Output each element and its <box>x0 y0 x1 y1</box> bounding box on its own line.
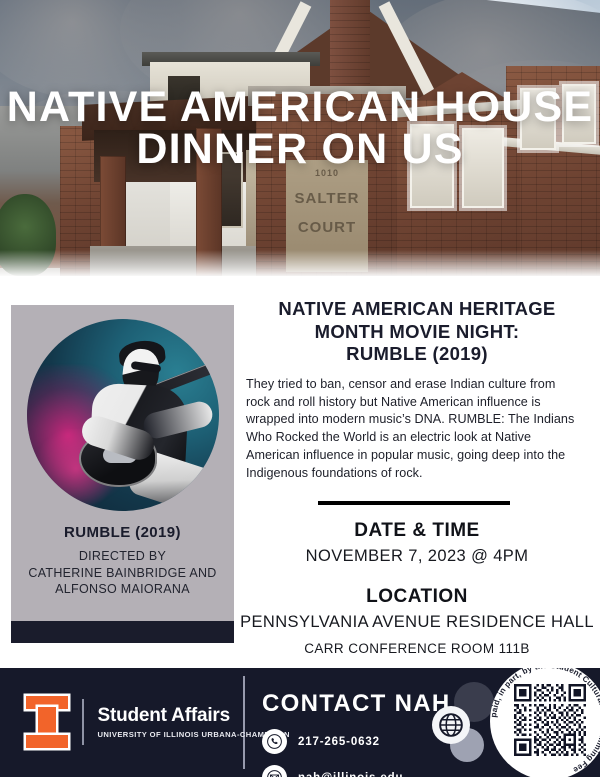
event-heading-line1: NATIVE AMERICAN HERITAGE <box>240 298 594 321</box>
section-divider <box>318 501 510 505</box>
movie-poster-artwork <box>27 319 219 511</box>
email-address: nah@illinois.edu <box>298 772 403 777</box>
event-heading-line3: RUMBLE (2019) <box>240 343 594 366</box>
envelope-icon <box>262 765 287 777</box>
event-details: NATIVE AMERICAN HERITAGE MONTH MOVIE NIG… <box>240 298 594 656</box>
location-room: CARR CONFERENCE ROOM 111B <box>240 641 594 656</box>
datetime-label: DATE & TIME <box>240 520 594 542</box>
event-heading-line2: MONTH MOVIE NIGHT: <box>240 321 594 344</box>
poster-accent-bar <box>11 621 234 643</box>
globe-icon <box>432 706 470 744</box>
datetime-value: NOVEMBER 7, 2023 @ 4PM <box>240 547 594 566</box>
building-sign-line1: SALTER <box>295 190 360 207</box>
movie-credits-line1: DIRECTED BY <box>17 548 228 565</box>
movie-credits-line3: ALFONSO MAIORANA <box>17 581 228 598</box>
event-heading: NATIVE AMERICAN HERITAGE MONTH MOVIE NIG… <box>240 298 594 366</box>
page-title-line2: DINNER ON US <box>0 128 600 170</box>
movie-title: RUMBLE (2019) <box>11 524 234 541</box>
photo-bottom-fade <box>0 250 600 276</box>
event-description: They tried to ban, censor and erase Indi… <box>246 376 580 483</box>
movie-poster-card: RUMBLE (2019) DIRECTED BY CATHERINE BAIN… <box>11 305 234 643</box>
qr-code-image[interactable] <box>514 684 586 756</box>
movie-credits-line2: CATHERINE BAINBRIDGE AND <box>17 565 228 582</box>
footer: Student Affairs UNIVERSITY OF ILLINOIS U… <box>0 668 600 777</box>
location-label: LOCATION <box>240 586 594 608</box>
location-block: LOCATION PENNSYLVANIA AVENUE RESIDENCE H… <box>240 586 594 656</box>
movie-credits: DIRECTED BY CATHERINE BAINBRIDGE AND ALF… <box>17 548 228 598</box>
phone-number: 217-265-0632 <box>298 736 380 748</box>
student-affairs-logo: Student Affairs UNIVERSITY OF ILLINOIS U… <box>26 696 290 748</box>
block-i-middle-bar <box>38 707 56 737</box>
building-sign-line2: COURT <box>298 219 356 236</box>
page-title-line1: NATIVE AMERICAN HOUSE <box>0 86 600 128</box>
datetime-block: DATE & TIME NOVEMBER 7, 2023 @ 4PM <box>240 520 594 566</box>
qr-code-badge[interactable]: paid, in part, by the Student Cultural P… <box>490 668 600 777</box>
page-title: NATIVE AMERICAN HOUSE DINNER ON US <box>0 86 600 170</box>
phone-icon <box>262 729 287 754</box>
location-value: PENNSYLVANIA AVENUE RESIDENCE HALL <box>240 613 594 632</box>
block-i-bottom-bar <box>26 735 68 748</box>
contact-email-row[interactable]: nah@illinois.edu <box>262 765 472 777</box>
logo-divider <box>82 699 84 745</box>
illinois-block-i-icon <box>26 696 68 748</box>
